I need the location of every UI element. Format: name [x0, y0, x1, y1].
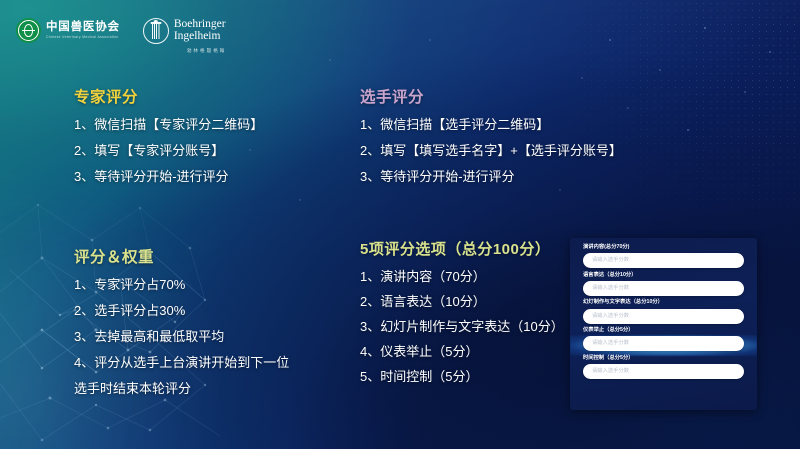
input-placeholder: 请输入选手分数 — [592, 369, 629, 374]
form-label-speech-content: 演讲内容(总分70分) — [583, 245, 747, 250]
list-item: 2、选手评分占30% — [74, 304, 289, 317]
form-field-speech-content: 演讲内容(总分70分) 请输入选手分数 — [583, 245, 744, 268]
form-label-time-control: 时间控制（总分5分） — [583, 356, 747, 361]
list-item: 3、等待评分开始-进行评分 — [360, 170, 622, 183]
list-item: 3、幻灯片制作与文字表达（10分） — [360, 320, 564, 333]
bi-name-line2: Ingelheim — [174, 30, 221, 42]
list-item: 2、填写【专家评分账号】 — [74, 144, 263, 157]
scoring-weight-heading: 评分＆权重 — [74, 245, 289, 267]
list-item: 1、专家评分占70% — [74, 278, 289, 291]
expert-scoring-heading: 专家评分 — [74, 85, 263, 107]
form-label-slides-and-text: 幻灯制作与文字表达（总分10分） — [583, 300, 747, 305]
list-item: 1、微信扫描【选手评分二维码】 — [360, 118, 622, 131]
cvma-english-name: Chinese Veterinary Medical Association — [46, 36, 120, 40]
score-input-time-control[interactable]: 请输入选手分数 — [583, 364, 744, 379]
boehringer-ingelheim-emblem-icon — [143, 18, 169, 44]
scoring-criteria-list: 1、演讲内容（70分） 2、语言表达（10分） 3、幻灯片制作与文字表达（10分… — [360, 270, 564, 383]
score-input-language-expression[interactable]: 请输入选手分数 — [583, 281, 744, 296]
logo-china-veterinary-medical-association: 中国兽医协会 Chinese Veterinary Medical Associ… — [16, 18, 120, 43]
logo-boehringer-ingelheim: Boehringer Ingelheim 勃林格殷格翰 — [143, 18, 227, 54]
list-item: 5、时间控制（5分） — [360, 370, 564, 383]
section-player-scoring: 选手评分 1、微信扫描【选手评分二维码】 2、填写【填写选手名字】+【选手评分账… — [360, 85, 622, 196]
cvma-chinese-name: 中国兽医协会 — [46, 22, 120, 34]
form-label-demeanor: 仪表举止（总分5分） — [583, 328, 747, 333]
list-item: 3、等待评分开始-进行评分 — [74, 170, 263, 183]
list-item: 4、仪表举止（5分） — [360, 345, 564, 358]
list-item: 1、演讲内容（70分） — [360, 270, 564, 283]
input-placeholder: 请输入选手分数 — [592, 258, 629, 263]
expert-scoring-steps: 1、微信扫描【专家评分二维码】 2、填写【专家评分账号】 3、等待评分开始-进行… — [74, 118, 263, 183]
input-placeholder: 请输入选手分数 — [592, 341, 629, 346]
form-field-time-control: 时间控制（总分5分） 请输入选手分数 — [583, 356, 744, 379]
bi-chinese-tagline: 勃林格殷格翰 — [187, 48, 227, 54]
scoring-criteria-heading: 5项评分选项（总分100分） — [360, 238, 564, 259]
form-field-slides-and-text: 幻灯制作与文字表达（总分10分） 请输入选手分数 — [583, 300, 744, 323]
list-item: 1、微信扫描【专家评分二维码】 — [74, 118, 263, 131]
player-scoring-steps: 1、微信扫描【选手评分二维码】 2、填写【填写选手名字】+【选手评分账号】 3、… — [360, 118, 622, 183]
score-input-speech-content[interactable]: 请输入选手分数 — [583, 253, 744, 268]
score-input-demeanor[interactable]: 请输入选手分数 — [583, 336, 744, 351]
form-label-language-expression: 语言表达（总分10分） — [583, 273, 747, 278]
section-expert-scoring: 专家评分 1、微信扫描【专家评分二维码】 2、填写【专家评分账号】 3、等待评分… — [74, 85, 263, 196]
list-item-continuation: 选手时结束本轮评分 — [74, 382, 289, 395]
bi-name-line1: Boehringer — [174, 18, 226, 30]
score-input-slides-and-text[interactable]: 请输入选手分数 — [583, 309, 744, 324]
player-scoring-heading: 选手评分 — [360, 85, 622, 107]
section-scoring-criteria: 5项评分选项（总分100分） 1、演讲内容（70分） 2、语言表达（10分） 3… — [360, 238, 564, 395]
section-scoring-weight: 评分＆权重 1、专家评分占70% 2、选手评分占30% 3、去掉最高和最低取平均… — [74, 245, 289, 408]
input-placeholder: 请输入选手分数 — [592, 313, 629, 318]
scoring-weight-rules: 1、专家评分占70% 2、选手评分占30% 3、去掉最高和最低取平均 4、评分从… — [74, 278, 289, 395]
form-field-demeanor: 仪表举止（总分5分） 请输入选手分数 — [583, 328, 744, 351]
cvma-emblem-icon — [16, 18, 41, 43]
list-item: 3、去掉最高和最低取平均 — [74, 330, 289, 343]
list-item: 2、语言表达（10分） — [360, 295, 564, 308]
list-item: 4、评分从选手上台演讲开始到下一位 — [74, 356, 289, 369]
list-item: 2、填写【填写选手名字】+【选手评分账号】 — [360, 144, 622, 157]
logo-bar: 中国兽医协会 Chinese Veterinary Medical Associ… — [16, 18, 226, 54]
form-field-language-expression: 语言表达（总分10分） 请输入选手分数 — [583, 273, 744, 296]
logo-separator — [131, 23, 132, 49]
presentation-slide: 中国兽医协会 Chinese Veterinary Medical Associ… — [0, 0, 800, 449]
input-placeholder: 请输入选手分数 — [592, 286, 629, 291]
scoring-form-panel: 演讲内容(总分70分) 请输入选手分数 语言表达（总分10分） 请输入选手分数 … — [570, 238, 757, 410]
